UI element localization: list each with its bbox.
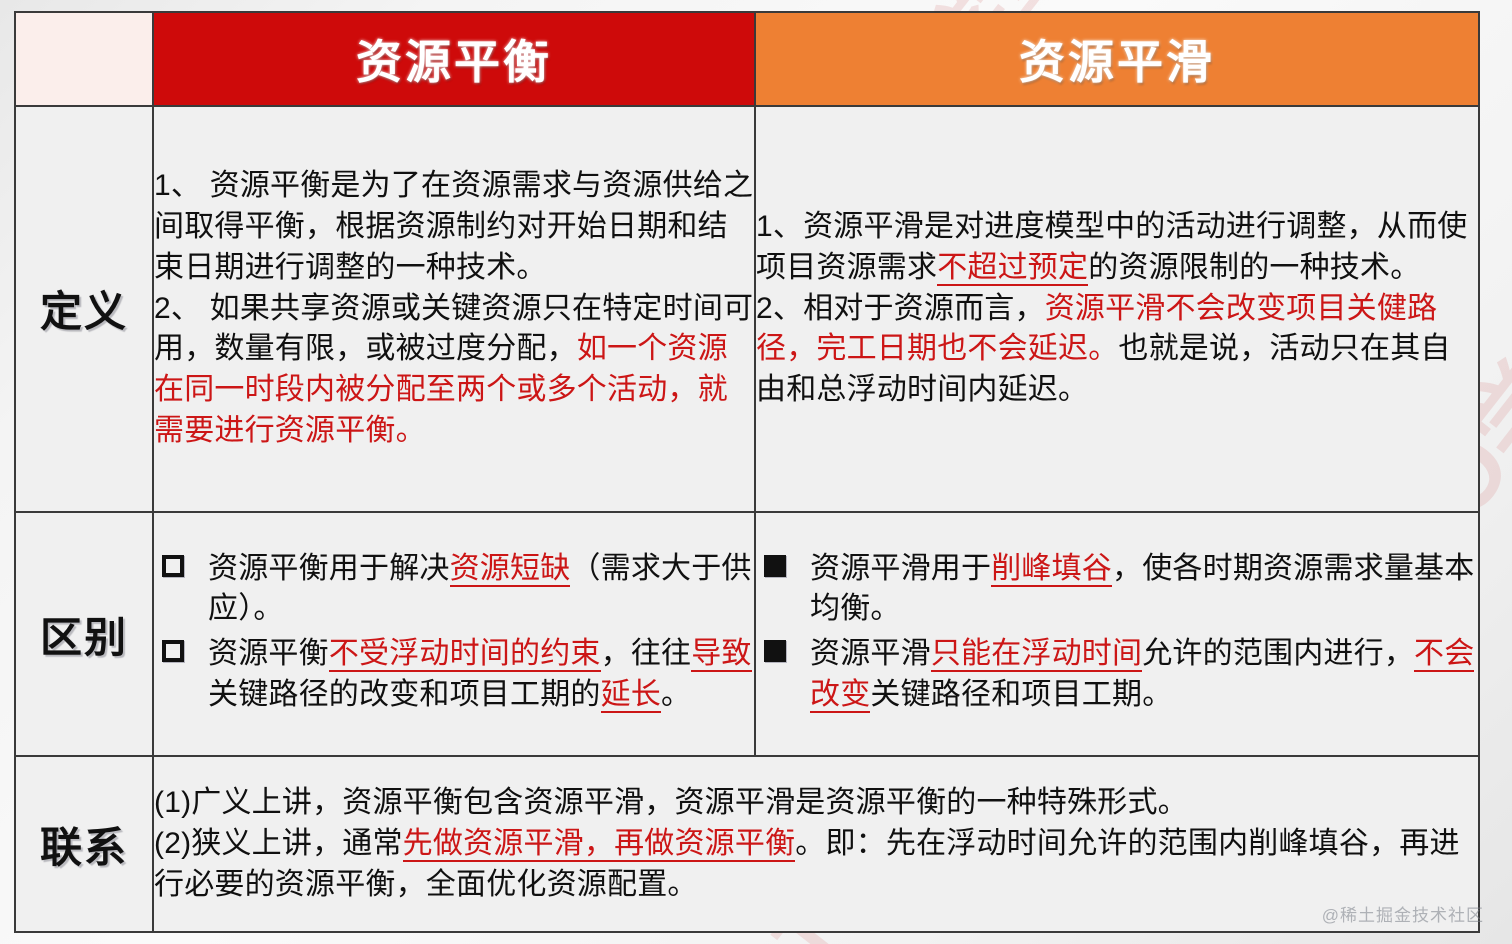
row-label-cell-difference: 区别	[15, 512, 153, 756]
table-row-definition: 定义 1、 资源平衡是为了在资源需求与资源供给之间取得平衡，根据资源制约对开始日…	[15, 106, 1479, 512]
row-label-cell-relation: 联系	[15, 756, 153, 932]
table-row-difference: 区别 资源平衡用于解决资源短缺（需求大于供应）。 资源平衡不受浮动时间的约束，往…	[15, 512, 1479, 756]
signature-watermark: @稀土掘金技术社区	[1322, 901, 1484, 926]
table-header-row: 资源平衡 资源平滑	[15, 12, 1479, 106]
difference-leveling-i2-highlight-2: 导致	[691, 637, 751, 672]
header-title-resource-leveling: 资源平衡	[356, 36, 552, 88]
cell-difference-smoothing: 资源平滑用于削峰填谷，使各时期资源需求量基本均衡。 资源平滑只能在浮动时间允许的…	[755, 512, 1479, 756]
table-row-relation: 联系 (1)广义上讲，资源平衡包含资源平滑，资源平滑是资源平衡的一种特殊形式。 …	[15, 756, 1479, 932]
row-label-relation: 联系	[40, 824, 128, 871]
relation-p2-plain-a: (2)狭义上讲，通常	[154, 827, 403, 860]
difference-leveling-i1-highlight: 资源短缺	[450, 552, 571, 587]
header-cell-resource-smoothing: 资源平滑	[755, 12, 1479, 106]
list-item: 资源平滑只能在浮动时间允许的范围内进行，不会改变关键路径和项目工期。	[756, 634, 1478, 716]
difference-smoothing-i1-highlight: 削峰填谷	[991, 552, 1112, 587]
relation-p1-text: (1)广义上讲，资源平衡包含资源平滑，资源平滑是资源平衡的一种特殊形式。	[154, 786, 1188, 819]
list-item: 资源平滑用于削峰填谷，使各时期资源需求量基本均衡。	[756, 549, 1478, 631]
definition-smoothing-p1-highlight: 不超过预定	[937, 251, 1088, 286]
hollow-square-bullet-icon	[162, 640, 184, 662]
definition-smoothing-para-2: 2、相对于资源而言，资源平滑不会改变项目关健路径，完工日期也不会延迟。也就是说，…	[756, 289, 1478, 411]
relation-para-2: (2)狭义上讲，通常先做资源平滑，再做资源平衡。即：先在浮动时间允许的范围内削峰…	[154, 824, 1478, 906]
solid-square-bullet-icon	[764, 640, 786, 662]
difference-leveling-i2-highlight-3: 延长	[601, 678, 661, 713]
difference-leveling-i2-highlight-1: 不受浮动时间的约束	[329, 637, 601, 672]
solid-square-bullet-icon	[764, 555, 786, 577]
difference-leveling-i2-plain-b: ，往往	[601, 637, 692, 670]
list-item: 资源平衡用于解决资源短缺（需求大于供应）。	[154, 549, 754, 631]
header-corner-cell	[15, 12, 153, 106]
difference-leveling-i1-plain-a: 资源平衡用于解决	[208, 552, 450, 585]
difference-smoothing-list: 资源平滑用于削峰填谷，使各时期资源需求量基本均衡。 资源平滑只能在浮动时间允许的…	[756, 549, 1478, 716]
definition-smoothing-p2-plain-a: 2、相对于资源而言，	[756, 292, 1045, 325]
difference-leveling-i2-plain-d: 。	[661, 678, 691, 711]
cell-difference-leveling: 资源平衡用于解决资源短缺（需求大于供应）。 资源平衡不受浮动时间的约束，往往导致…	[153, 512, 755, 756]
difference-leveling-list: 资源平衡用于解决资源短缺（需求大于供应）。 资源平衡不受浮动时间的约束，往往导致…	[154, 549, 754, 716]
comparison-table-container: 资源平衡 资源平滑 定义 1、 资源平衡是为了在资源需求与资源供给之间取得平衡，…	[14, 11, 1480, 933]
cell-definition-smoothing: 1、资源平滑是对进度模型中的活动进行调整，从而使项目资源需求不超过预定的资源限制…	[755, 106, 1479, 512]
difference-smoothing-i2-highlight-1: 只能在浮动时间	[931, 637, 1142, 672]
relation-para-1: (1)广义上讲，资源平衡包含资源平滑，资源平滑是资源平衡的一种特殊形式。	[154, 783, 1478, 824]
difference-smoothing-i2-plain-c: 关键路径和项目工期。	[870, 678, 1172, 711]
list-item: 资源平衡不受浮动时间的约束，往往导致关键路径的改变和项目工期的延长。	[154, 634, 754, 716]
difference-leveling-i2-plain-a: 资源平衡	[208, 637, 329, 670]
header-cell-resource-leveling: 资源平衡	[153, 12, 755, 106]
cell-relation-full: (1)广义上讲，资源平衡包含资源平滑，资源平滑是资源平衡的一种特殊形式。 (2)…	[153, 756, 1479, 932]
definition-leveling-p1-text: 1、 资源平衡是为了在资源需求与资源供给之间取得平衡，根据资源制约对开始日期和结…	[154, 169, 753, 284]
header-title-resource-smoothing: 资源平滑	[1019, 36, 1215, 88]
definition-leveling-para-2: 2、 如果共享资源或关键资源只在特定时间可用，数量有限，或被过度分配，如一个资源…	[154, 289, 754, 452]
hollow-square-bullet-icon	[162, 555, 184, 577]
comparison-table: 资源平衡 资源平滑 定义 1、 资源平衡是为了在资源需求与资源供给之间取得平衡，…	[14, 11, 1480, 933]
row-label-definition: 定义	[40, 288, 128, 335]
definition-smoothing-para-1: 1、资源平滑是对进度模型中的活动进行调整，从而使项目资源需求不超过预定的资源限制…	[756, 207, 1478, 289]
cell-definition-leveling: 1、 资源平衡是为了在资源需求与资源供给之间取得平衡，根据资源制约对开始日期和结…	[153, 106, 755, 512]
difference-smoothing-i2-plain-b: 允许的范围内进行，	[1142, 637, 1414, 670]
definition-smoothing-p1-plain-b: 的资源限制的一种技术。	[1088, 251, 1420, 284]
difference-leveling-i2-plain-c: 关键路径的改变和项目工期的	[208, 678, 601, 711]
difference-smoothing-i1-plain-a: 资源平滑用于	[810, 552, 991, 585]
row-label-cell-definition: 定义	[15, 106, 153, 512]
row-label-difference: 区别	[40, 614, 128, 661]
difference-smoothing-i2-plain-a: 资源平滑	[810, 637, 931, 670]
relation-p2-highlight: 先做资源平滑，再做资源平衡	[403, 827, 796, 862]
definition-leveling-para-1: 1、 资源平衡是为了在资源需求与资源供给之间取得平衡，根据资源制约对开始日期和结…	[154, 166, 754, 288]
